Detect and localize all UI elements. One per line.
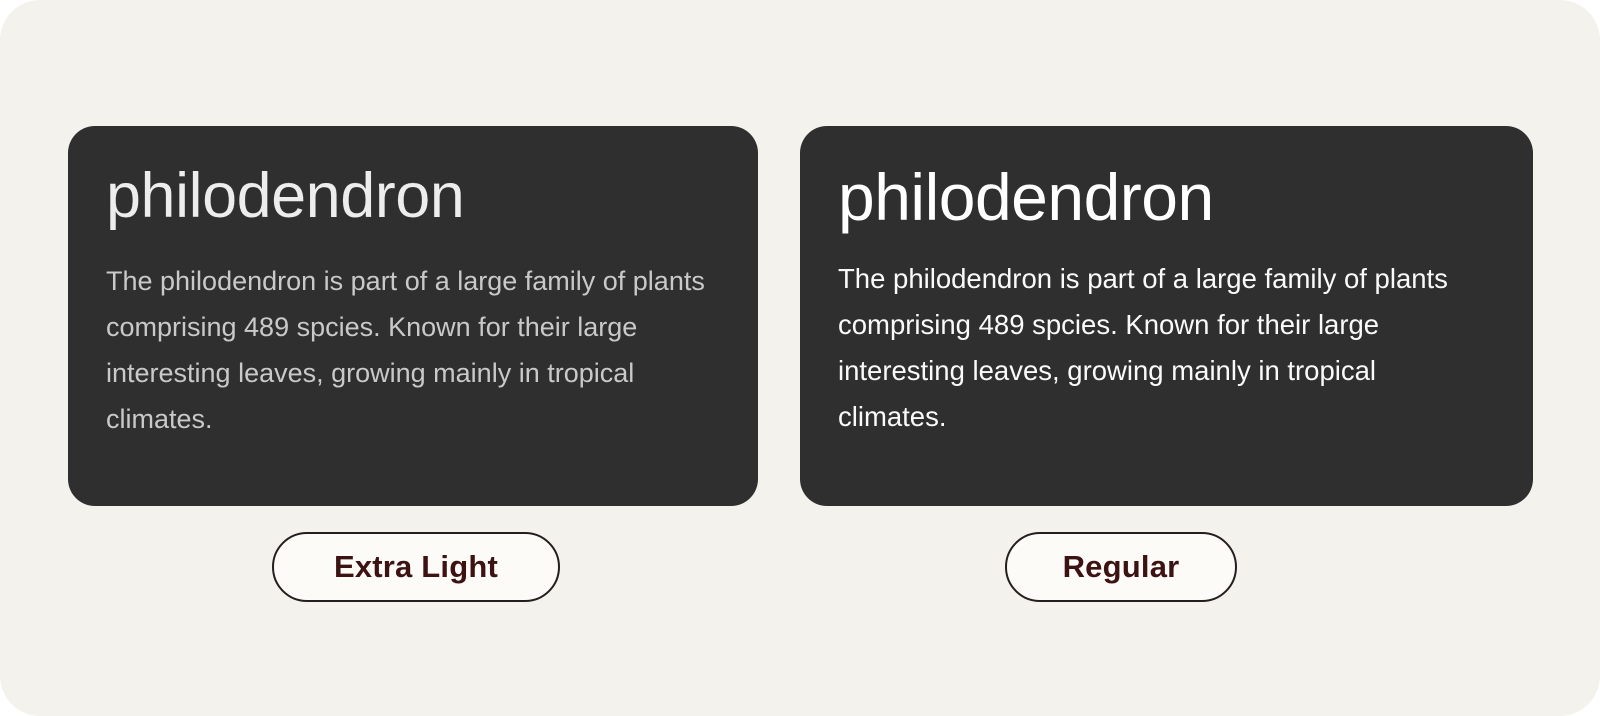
specimen-title-regular: philodendron bbox=[838, 158, 1495, 236]
specimen-card-extra-light: philodendron The philodendron is part of… bbox=[68, 126, 758, 506]
type-specimen-page: philodendron The philodendron is part of… bbox=[0, 0, 1600, 716]
specimen-body-extra-light: The philodendron is part of a large fami… bbox=[106, 258, 716, 442]
specimen-comparison-row: philodendron The philodendron is part of… bbox=[0, 0, 1600, 716]
specimen-card-regular: philodendron The philodendron is part of… bbox=[800, 126, 1533, 506]
specimen-body-regular: The philodendron is part of a large fami… bbox=[838, 256, 1463, 440]
weight-label-regular-button[interactable]: Regular bbox=[1005, 532, 1237, 602]
weight-label-extra-light-button[interactable]: Extra Light bbox=[272, 532, 560, 602]
specimen-title-extra-light: philodendron bbox=[106, 158, 720, 234]
